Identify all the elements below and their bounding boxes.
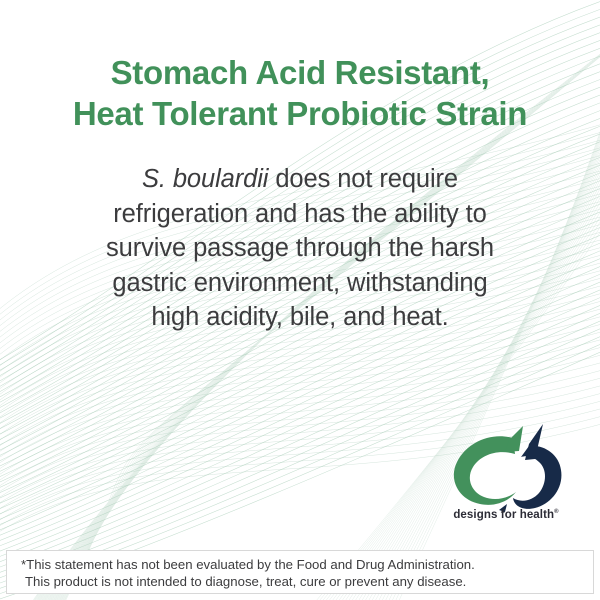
brand-wordmark: designs for health® <box>437 509 575 521</box>
disclaimer-line-2: This product is not intended to diagnose… <box>21 574 593 591</box>
body-description: S. boulardii does not require refrigerat… <box>40 162 560 335</box>
page-title: Stomach Acid Resistant, Heat Tolerant Pr… <box>0 52 600 134</box>
brand-wordmark-text: designs for health <box>453 509 554 521</box>
registered-trademark-symbol: ® <box>554 509 559 515</box>
disclaimer-line-1: *This statement has not been evaluated b… <box>21 557 593 574</box>
headline-line-2: Heat Tolerant Probiotic Strain <box>0 93 600 134</box>
body-line-3: survive passage through the harsh <box>40 231 560 266</box>
body-line-2: refrigeration and has the ability to <box>40 197 560 232</box>
fda-disclaimer: *This statement has not been evaluated b… <box>6 550 594 594</box>
body-line-1: S. boulardii does not require <box>40 162 560 197</box>
brand-logo: designs for health® <box>437 424 575 534</box>
product-claim-card: Stomach Acid Resistant, Heat Tolerant Pr… <box>0 0 600 600</box>
body-line-1-rest: does not require <box>268 165 458 193</box>
headline-line-1: Stomach Acid Resistant, <box>0 52 600 93</box>
body-line-4: gastric environment, withstanding <box>40 266 560 301</box>
body-line-5: high acidity, bile, and heat. <box>40 300 560 335</box>
dfh-monogram-icon <box>447 424 565 512</box>
scientific-name: S. boulardii <box>142 165 268 193</box>
